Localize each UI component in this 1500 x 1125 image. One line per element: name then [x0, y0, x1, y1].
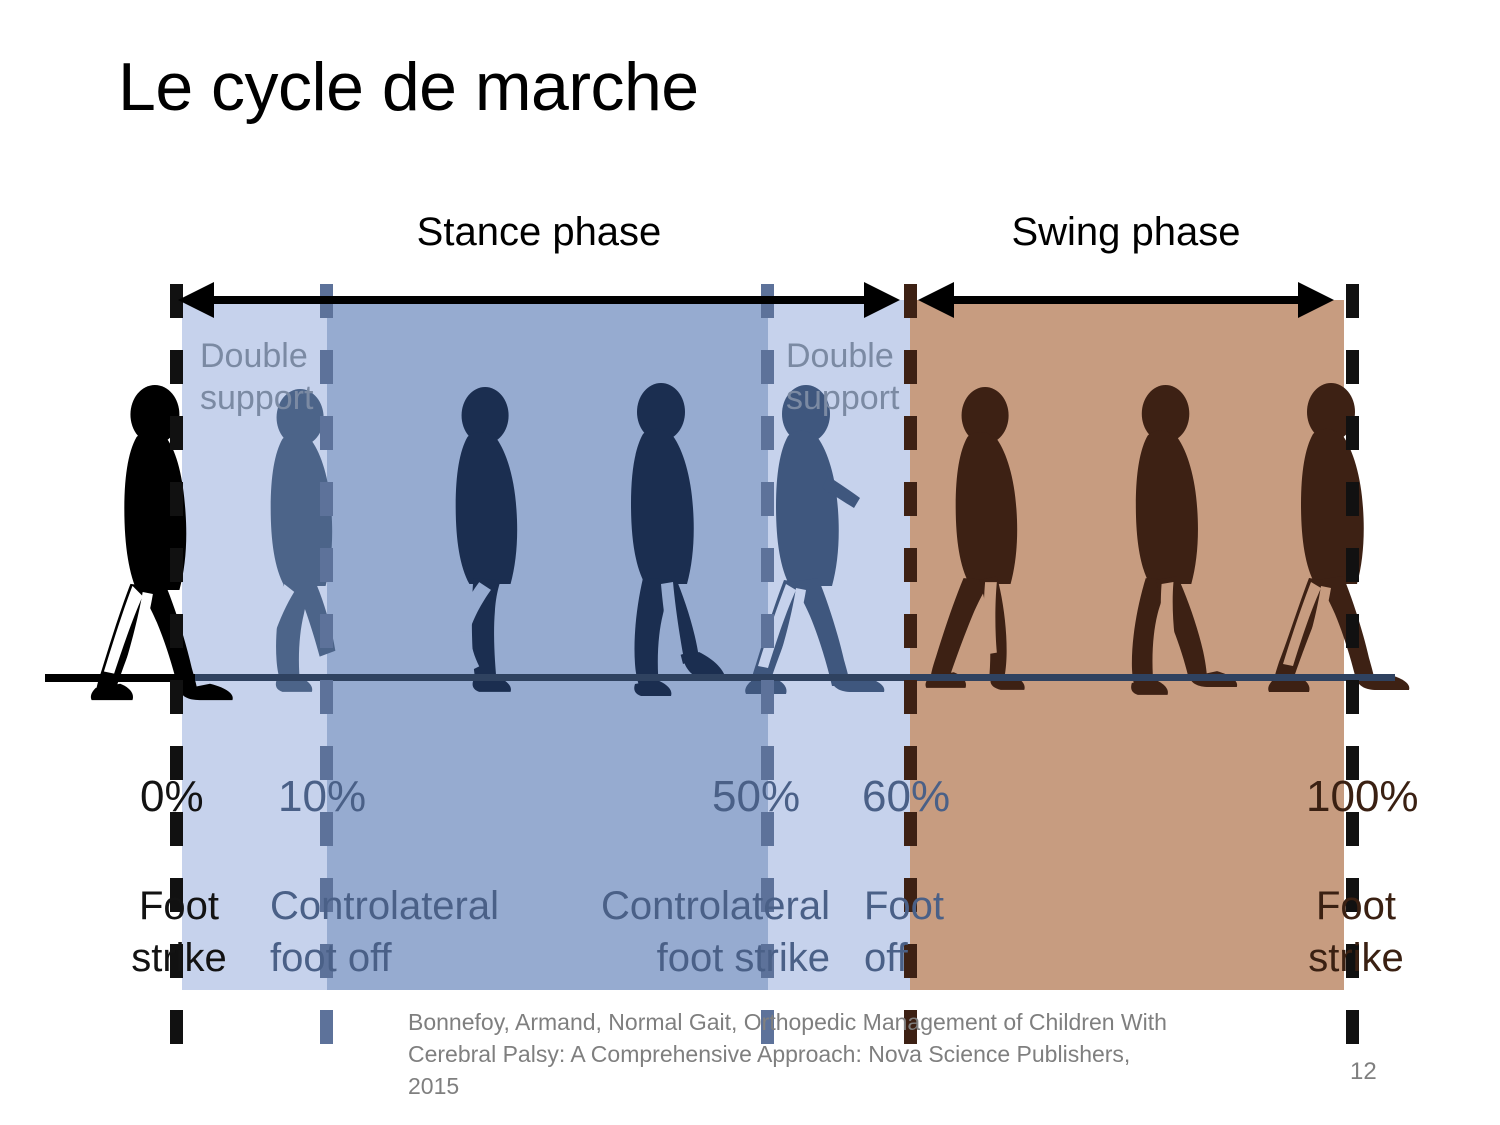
event-label-60pct: Foot off	[864, 880, 994, 984]
event-label-10pct: Controlateral foot off	[270, 880, 530, 984]
event-label-100pct: Foot strike	[1296, 880, 1416, 984]
swing-phase-label: Swing phase	[920, 210, 1332, 255]
walker-0pct	[91, 385, 233, 700]
event-label-0pct-line2: strike	[124, 932, 234, 984]
walker-85pct	[1131, 385, 1237, 695]
event-label-50pct-line2: foot strike	[600, 932, 830, 984]
pct-label-10: 10%	[278, 772, 366, 822]
swing-phase-arrow	[952, 296, 1300, 304]
event-label-60pct-line2: off	[864, 932, 994, 984]
arrow-head-left-icon	[178, 282, 214, 318]
event-label-10pct-line2: foot off	[270, 932, 530, 984]
event-label-0pct-line1: Foot	[124, 880, 234, 932]
event-label-100pct-line2: strike	[1296, 932, 1416, 984]
arrow-head-left-icon	[918, 282, 954, 318]
page-title: Le cycle de marche	[118, 52, 699, 123]
walker-25pct	[456, 387, 517, 692]
event-label-50pct-line1: Controlateral	[600, 880, 830, 932]
stance-phase-arrow	[212, 296, 866, 304]
ground-line	[45, 674, 1395, 681]
double-support-label-1-line2: support	[200, 377, 313, 419]
event-label-0pct: Foot strike	[124, 880, 234, 984]
walker-100pct	[1268, 383, 1409, 692]
arrow-head-right-icon	[1298, 282, 1334, 318]
event-label-60pct-line1: Foot	[864, 880, 994, 932]
pct-label-60: 60%	[862, 772, 950, 822]
double-support-label-2-line2: support	[786, 377, 899, 419]
walker-40pct	[631, 383, 725, 696]
double-support-label-2: Double support	[786, 335, 899, 419]
pct-label-50: 50%	[712, 772, 800, 822]
double-support-label-1-line1: Double	[200, 335, 313, 377]
event-label-50pct: Controlateral foot strike	[600, 880, 830, 984]
event-label-100pct-line1: Foot	[1296, 880, 1416, 932]
page-number: 12	[1350, 1058, 1377, 1086]
walker-70pct	[926, 387, 1025, 690]
double-support-label-1: Double support	[200, 335, 313, 419]
gait-cycle-diagram: Stance phase Swing phase Double support …	[0, 200, 1500, 1000]
stance-phase-label: Stance phase	[212, 210, 866, 255]
source-citation: Bonnefoy, Armand, Normal Gait, Orthopedi…	[408, 1006, 1168, 1102]
event-label-10pct-line1: Controlateral	[270, 880, 530, 932]
arrow-head-right-icon	[864, 282, 900, 318]
double-support-label-2-line1: Double	[786, 335, 899, 377]
pct-label-0: 0%	[140, 772, 204, 822]
pct-label-100: 100%	[1306, 772, 1419, 822]
